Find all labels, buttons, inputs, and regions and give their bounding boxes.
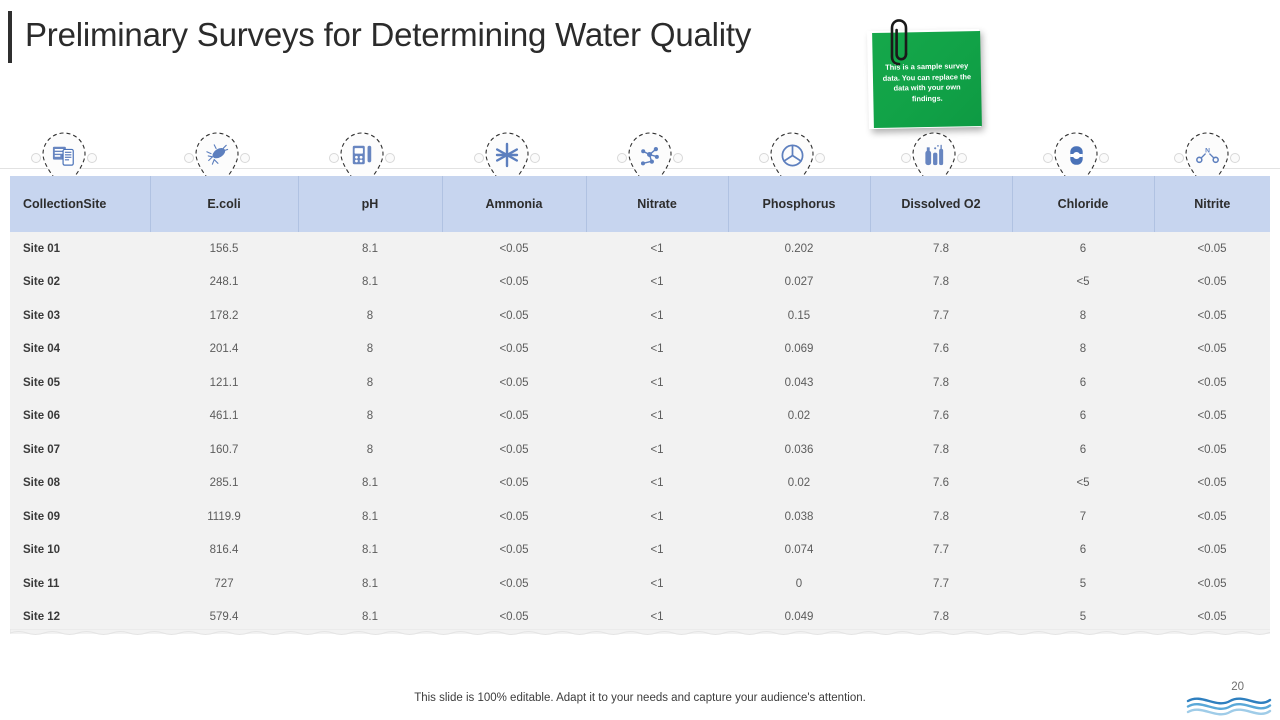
table-row: Site 08285.18.1<0.05<10.027.6<5<0.05 [10, 467, 1270, 501]
table-cell: 8 [298, 366, 442, 400]
table-cell: <1 [586, 366, 728, 400]
table-cell: <0.05 [442, 333, 586, 367]
table-cell-site: Site 03 [10, 299, 150, 333]
table-cell: 0.069 [728, 333, 870, 367]
table-cell: 0.027 [728, 266, 870, 300]
table-cell: 8.1 [298, 500, 442, 534]
pin-nub-right [1099, 153, 1109, 163]
table-row: Site 04201.48<0.05<10.0697.68<0.05 [10, 333, 1270, 367]
table-column-header: Nitrate [586, 176, 728, 232]
table-cell-site: Site 07 [10, 433, 150, 467]
table-cell: 8 [298, 333, 442, 367]
asterisk-molecule-icon [493, 141, 521, 169]
pin-nub-left [474, 153, 484, 163]
table-cell: <1 [586, 500, 728, 534]
table-cell-site: Site 08 [10, 467, 150, 501]
table-cell: 8.1 [298, 567, 442, 601]
table-column-header: Chloride [1012, 176, 1154, 232]
table-cell: <0.05 [442, 400, 586, 434]
table-row: Site 07160.78<0.05<10.0367.86<0.05 [10, 433, 1270, 467]
phosphorus-circle-icon [778, 141, 806, 169]
table-cell: 7.8 [870, 366, 1012, 400]
table-cell: 7.8 [870, 433, 1012, 467]
pin-nub-left [31, 153, 41, 163]
pin-nub-left [759, 153, 769, 163]
paperclip-icon [890, 18, 908, 66]
molecule-node-icon [636, 141, 664, 169]
table-cell-site: Site 10 [10, 534, 150, 568]
table-cell: 6 [1012, 400, 1154, 434]
table-cell: <0.05 [442, 467, 586, 501]
table-header-row: CollectionSiteE.colipHAmmoniaNitratePhos… [10, 176, 1270, 232]
document-report-icon [50, 141, 78, 169]
title-accent-bar [8, 11, 12, 63]
pin-nub-right [1230, 153, 1240, 163]
table-cell: <1 [586, 232, 728, 266]
table-cell: <0.05 [442, 534, 586, 568]
table-cell: 0 [728, 567, 870, 601]
pin-nub-right [240, 153, 250, 163]
table-wavy-bottom-edge [10, 629, 1270, 641]
table-cell: 0.038 [728, 500, 870, 534]
table-row: Site 01156.58.1<0.05<10.2027.86<0.05 [10, 232, 1270, 266]
table-row: Site 02248.18.1<0.05<10.0277.8<5<0.05 [10, 266, 1270, 300]
table-cell: <1 [586, 400, 728, 434]
table-cell: 7.6 [870, 467, 1012, 501]
table-cell: 727 [150, 567, 298, 601]
table-cell: <0.05 [1154, 534, 1270, 568]
table-cell: 201.4 [150, 333, 298, 367]
table-cell: 7.8 [870, 232, 1012, 266]
table-cell: 8 [298, 433, 442, 467]
table-cell: <0.05 [1154, 433, 1270, 467]
table-cell-site: Site 01 [10, 232, 150, 266]
table-cell-site: Site 06 [10, 400, 150, 434]
pin-nub-left [329, 153, 339, 163]
table-cell: 0.02 [728, 400, 870, 434]
table-cell: <0.05 [442, 366, 586, 400]
table-column-header: Ammonia [442, 176, 586, 232]
table-cell: 8 [1012, 299, 1154, 333]
table-column-header: Dissolved O2 [870, 176, 1012, 232]
table-cell: 8.1 [298, 266, 442, 300]
table-cell: 6 [1012, 534, 1154, 568]
table-cell: <1 [586, 534, 728, 568]
table-row: Site 03178.28<0.05<10.157.78<0.05 [10, 299, 1270, 333]
table-cell: 0.02 [728, 467, 870, 501]
table-cell: 8.1 [298, 467, 442, 501]
table-cell-site: Site 04 [10, 333, 150, 367]
water-quality-table: CollectionSiteE.colipHAmmoniaNitratePhos… [10, 176, 1270, 634]
table-cell: <0.05 [1154, 500, 1270, 534]
pin-nub-right [530, 153, 540, 163]
table-column-header: Nitrite [1154, 176, 1270, 232]
table-cell: 816.4 [150, 534, 298, 568]
table-header: CollectionSiteE.colipHAmmoniaNitratePhos… [10, 176, 1270, 232]
table-column-header: Phosphorus [728, 176, 870, 232]
table-cell: 5 [1012, 567, 1154, 601]
bacteria-icon [203, 141, 231, 169]
table-cell: 8 [298, 400, 442, 434]
table-cell: 8.1 [298, 534, 442, 568]
table-cell: 7.6 [870, 333, 1012, 367]
table-cell: 7.7 [870, 567, 1012, 601]
table-column-header: pH [298, 176, 442, 232]
table-cell: <0.05 [1154, 266, 1270, 300]
table-row: Site 06461.18<0.05<10.027.66<0.05 [10, 400, 1270, 434]
table-cell: <0.05 [1154, 467, 1270, 501]
table-cell: <0.05 [1154, 299, 1270, 333]
table-cell: <0.05 [1154, 333, 1270, 367]
pin-nub-left [184, 153, 194, 163]
table-cell: <0.05 [1154, 232, 1270, 266]
table-cell: 156.5 [150, 232, 298, 266]
table-cell-site: Site 11 [10, 567, 150, 601]
table-cell: 6 [1012, 232, 1154, 266]
table-cell: <5 [1012, 266, 1154, 300]
table-cell: <1 [586, 567, 728, 601]
table-cell: 1119.9 [150, 500, 298, 534]
pin-nub-left [617, 153, 627, 163]
table-cell: 7.8 [870, 500, 1012, 534]
table-cell: 285.1 [150, 467, 298, 501]
sample-data-sticky-note: This is a sample survey data. You can re… [862, 18, 990, 138]
footer-note: This slide is 100% editable. Adapt it to… [0, 692, 1280, 704]
table-cell: <1 [586, 467, 728, 501]
pin-nub-right [385, 153, 395, 163]
table-cell: <1 [586, 299, 728, 333]
table-cell: 7.8 [870, 266, 1012, 300]
pin-nub-right [957, 153, 967, 163]
pin-nub-left [1043, 153, 1053, 163]
table-cell: 8 [298, 299, 442, 333]
table-row: Site 117278.1<0.05<107.75<0.05 [10, 567, 1270, 601]
table-cell: 121.1 [150, 366, 298, 400]
table-cell: 7.7 [870, 534, 1012, 568]
table-row: Site 091119.98.1<0.05<10.0387.87<0.05 [10, 500, 1270, 534]
pin-nub-left [1174, 153, 1184, 163]
table-cell: 6 [1012, 433, 1154, 467]
table-cell-site: Site 05 [10, 366, 150, 400]
table-cell: 248.1 [150, 266, 298, 300]
table-cell-site: Site 02 [10, 266, 150, 300]
table-cell: <0.05 [442, 567, 586, 601]
table-cell: 8.1 [298, 232, 442, 266]
table-body: Site 01156.58.1<0.05<10.2027.86<0.05Site… [10, 232, 1270, 634]
pin-nub-right [815, 153, 825, 163]
table-cell: 0.202 [728, 232, 870, 266]
table-cell: <0.05 [1154, 567, 1270, 601]
table-cell: <0.05 [442, 299, 586, 333]
table-column-header: E.coli [150, 176, 298, 232]
pin-nub-right [673, 153, 683, 163]
table-cell: 7.6 [870, 400, 1012, 434]
table-row: Site 05121.18<0.05<10.0437.86<0.05 [10, 366, 1270, 400]
table-cell: <0.05 [1154, 366, 1270, 400]
chloride-capsule-icon [1062, 141, 1090, 169]
nitrite-bond-icon: N [1193, 141, 1221, 169]
table-cell: 0.043 [728, 366, 870, 400]
table-cell: <1 [586, 266, 728, 300]
table-cell: 8 [1012, 333, 1154, 367]
table-cell: <1 [586, 433, 728, 467]
table-cell: 0.036 [728, 433, 870, 467]
table-cell: <1 [586, 333, 728, 367]
ph-meter-icon [348, 141, 376, 169]
sticky-note-text: This is a sample survey data. You can re… [878, 61, 977, 105]
table-row: Site 10816.48.1<0.05<10.0747.76<0.05 [10, 534, 1270, 568]
table-cell: 0.15 [728, 299, 870, 333]
table-cell: <5 [1012, 467, 1154, 501]
table-cell: <0.05 [442, 232, 586, 266]
table-cell: <0.05 [442, 500, 586, 534]
table-cell: 178.2 [150, 299, 298, 333]
table-cell: 461.1 [150, 400, 298, 434]
table-cell: <0.05 [442, 433, 586, 467]
table-cell: 7.7 [870, 299, 1012, 333]
water-quality-table-wrap: CollectionSiteE.colipHAmmoniaNitratePhos… [10, 176, 1270, 634]
oxygen-cylinder-icon [920, 141, 948, 169]
table-cell: 6 [1012, 366, 1154, 400]
wave-logo-icon [1186, 692, 1272, 718]
table-cell: <0.05 [442, 266, 586, 300]
svg-text:N: N [1205, 147, 1210, 154]
table-cell: 0.074 [728, 534, 870, 568]
table-cell: 160.7 [150, 433, 298, 467]
page-title: Preliminary Surveys for Determining Wate… [25, 16, 751, 54]
pin-nub-right [87, 153, 97, 163]
table-cell: <0.05 [1154, 400, 1270, 434]
table-cell-site: Site 09 [10, 500, 150, 534]
pin-nub-left [901, 153, 911, 163]
table-cell: 7 [1012, 500, 1154, 534]
table-column-header: CollectionSite [10, 176, 150, 232]
